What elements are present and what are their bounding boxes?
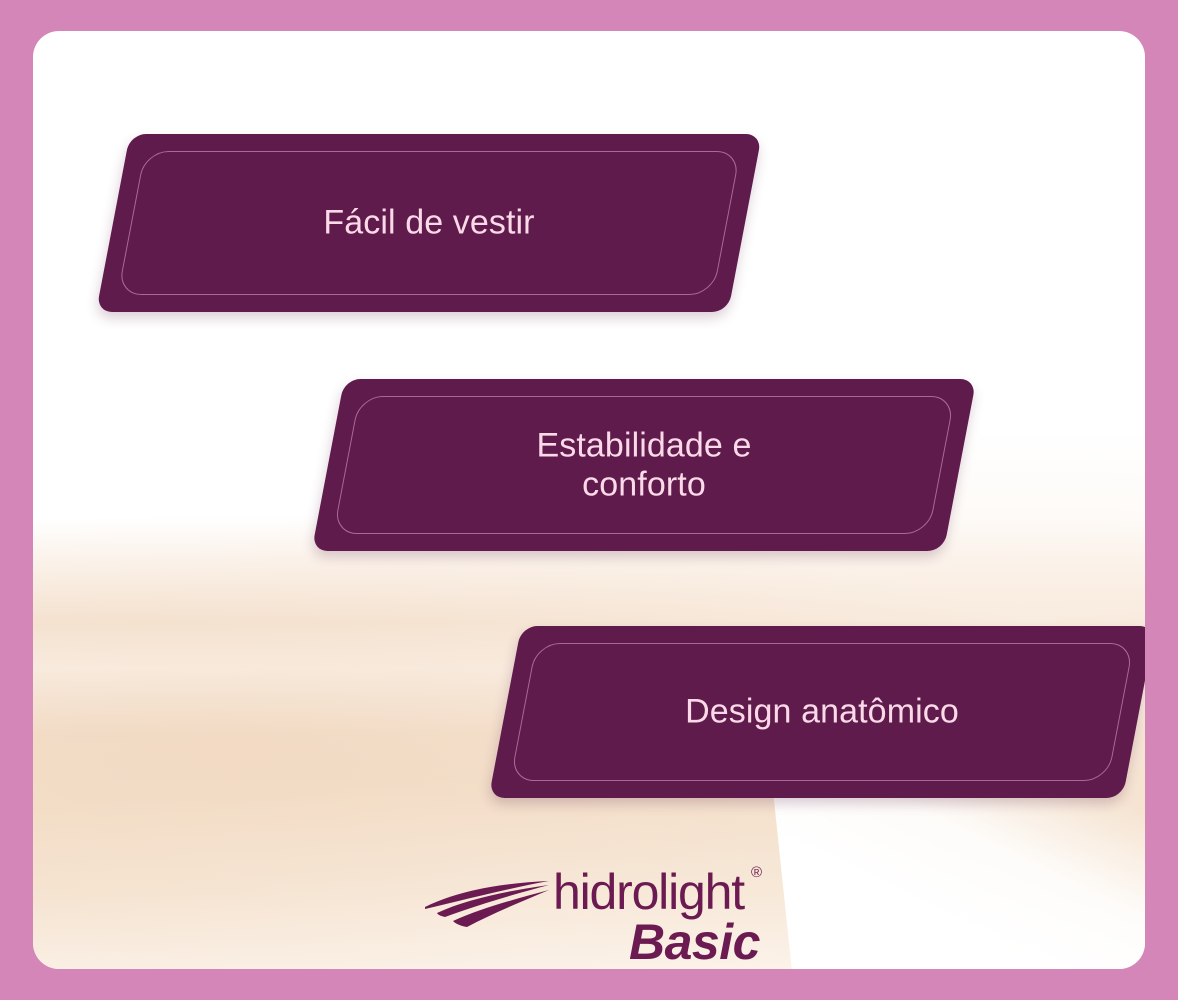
banner-label: Estabilidade e conforto (328, 426, 960, 504)
banner-label: Fácil de vestir (113, 204, 745, 243)
swoosh-icon (423, 875, 551, 931)
feature-banner-estabilidade-e-conforto[interactable]: Estabilidade e conforto (312, 379, 977, 551)
brand-logo: hidrolight ® Basic (423, 867, 803, 969)
feature-banner-facil-de-vestir[interactable]: Fácil de vestir (96, 134, 762, 312)
outer-frame: Fácil de vestir Estabilidade e conforto … (0, 0, 1178, 1000)
feature-banner-design-anatomico[interactable]: Design anatômico (489, 626, 1145, 798)
registered-trademark-icon: ® (751, 865, 761, 880)
banner-label: Design anatômico (505, 693, 1139, 732)
logo-subbrand: Basic (629, 917, 760, 967)
logo-wordmark-text: hidrolight (553, 864, 744, 920)
content-card: Fácil de vestir Estabilidade e conforto … (33, 31, 1145, 969)
logo-wordmark: hidrolight ® (553, 867, 744, 917)
